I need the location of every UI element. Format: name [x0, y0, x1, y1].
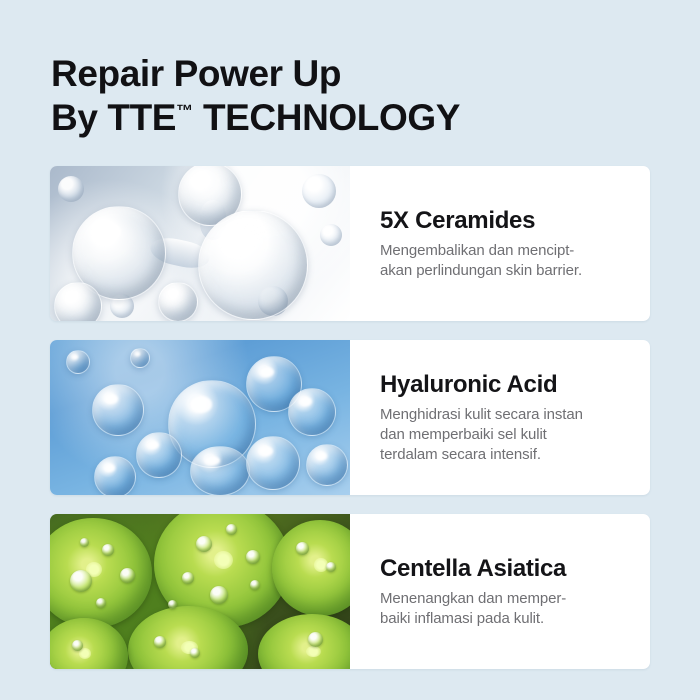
ingredient-title: Hyaluronic Acid: [380, 370, 632, 400]
dew-drop: [154, 636, 166, 648]
dew-drop: [210, 586, 228, 604]
dew-drop: [190, 648, 200, 658]
dew-drop: [196, 536, 212, 552]
ingredient-description: Mengembalikan dan mencipt- akan perlindu…: [380, 241, 632, 281]
water-bubble: [136, 432, 182, 478]
ingredient-card-list: 5X Ceramides Mengembalikan dan mencipt- …: [50, 166, 650, 688]
ingredient-card-text: Hyaluronic Acid Menghidrasi kulit secara…: [350, 340, 650, 495]
description-line: Menenangkan dan memper-: [380, 589, 632, 609]
dew-drop: [308, 632, 323, 647]
ingredient-title: 5X Ceramides: [380, 206, 632, 236]
headline-line-1: Repair Power Up: [51, 52, 651, 96]
dew-drop: [250, 580, 260, 590]
trademark-icon: ™: [176, 102, 193, 121]
water-bubble: [288, 388, 336, 436]
dew-drop: [326, 562, 336, 572]
water-droplet: [158, 282, 198, 321]
water-bubble: [94, 456, 136, 495]
decorative-bubble: [58, 176, 84, 202]
dew-drop: [102, 544, 114, 556]
description-line: baiki inflamasi pada kulit.: [380, 609, 632, 629]
headline-line-2: By TTE™ TECHNOLOGY: [51, 96, 651, 140]
description-line: akan perlindungan skin barrier.: [380, 261, 632, 281]
dew-drop: [296, 542, 309, 555]
headline-technology-text: TECHNOLOGY: [193, 97, 460, 138]
dew-drop: [72, 640, 83, 651]
ingredient-title: Centella Asiatica: [380, 554, 632, 584]
centella-leaf: [50, 618, 128, 669]
dew-drop: [226, 524, 237, 535]
description-line: terdalam secara intensif.: [380, 445, 632, 465]
dew-drop: [80, 538, 89, 547]
water-bubble: [190, 446, 250, 495]
ingredient-card-text: 5X Ceramides Mengembalikan dan mencipt- …: [350, 166, 650, 321]
blue-water-bubbles-image: [50, 340, 350, 495]
decorative-bubble: [302, 174, 336, 208]
centella-leaf: [258, 614, 350, 669]
centella-leaf: [50, 518, 152, 628]
description-line: Mengembalikan dan mencipt-: [380, 241, 632, 261]
dew-drop: [96, 598, 106, 608]
headline-brand-text: By TTE: [51, 97, 176, 138]
centella-leaf: [272, 520, 350, 616]
description-line: dan memperbaiki sel kulit: [380, 425, 632, 445]
page-headline: Repair Power Up By TTE™ TECHNOLOGY: [51, 52, 651, 140]
centella-leaves-dew-image: [50, 514, 350, 669]
ingredient-description: Menghidrasi kulit secara instan dan memp…: [380, 405, 632, 465]
ingredient-card-centella-asiatica[interactable]: Centella Asiatica Menenangkan dan memper…: [50, 514, 650, 669]
ingredient-card-text: Centella Asiatica Menenangkan dan memper…: [350, 514, 650, 669]
description-line: Menghidrasi kulit secara instan: [380, 405, 632, 425]
water-bubble: [306, 444, 348, 486]
ingredient-card-hyaluronic-acid[interactable]: Hyaluronic Acid Menghidrasi kulit secara…: [50, 340, 650, 495]
ingredient-card-ceramides[interactable]: 5X Ceramides Mengembalikan dan mencipt- …: [50, 166, 650, 321]
decorative-bubble: [320, 224, 342, 246]
dew-drop: [168, 600, 177, 609]
water-molecule-droplets-image: [50, 166, 350, 321]
water-bubble: [130, 348, 150, 368]
water-bubble: [246, 436, 300, 490]
water-bubble: [92, 384, 144, 436]
water-droplet: [198, 210, 308, 320]
water-bubble: [66, 350, 90, 374]
dew-drop: [120, 568, 135, 583]
ingredient-description: Menenangkan dan memper- baiki inflamasi …: [380, 589, 632, 629]
dew-drop: [70, 570, 92, 592]
dew-drop: [182, 572, 194, 584]
dew-drop: [246, 550, 260, 564]
